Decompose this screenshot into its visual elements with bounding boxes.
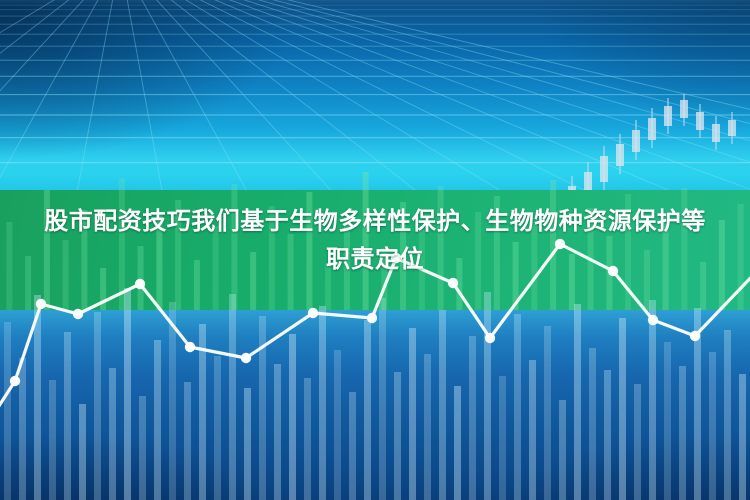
banner-headline: 股市配资技巧我们基于生物多样性保护、生物物种资源保护等 职责定位 (0, 203, 750, 279)
headline-line-2: 职责定位 (0, 241, 750, 279)
headline-line-1: 股市配资技巧我们基于生物多样性保护、生物物种资源保护等 (0, 203, 750, 241)
stock-market-banner: 股市配资技巧我们基于生物多样性保护、生物物种资源保护等 职责定位 (0, 0, 750, 500)
